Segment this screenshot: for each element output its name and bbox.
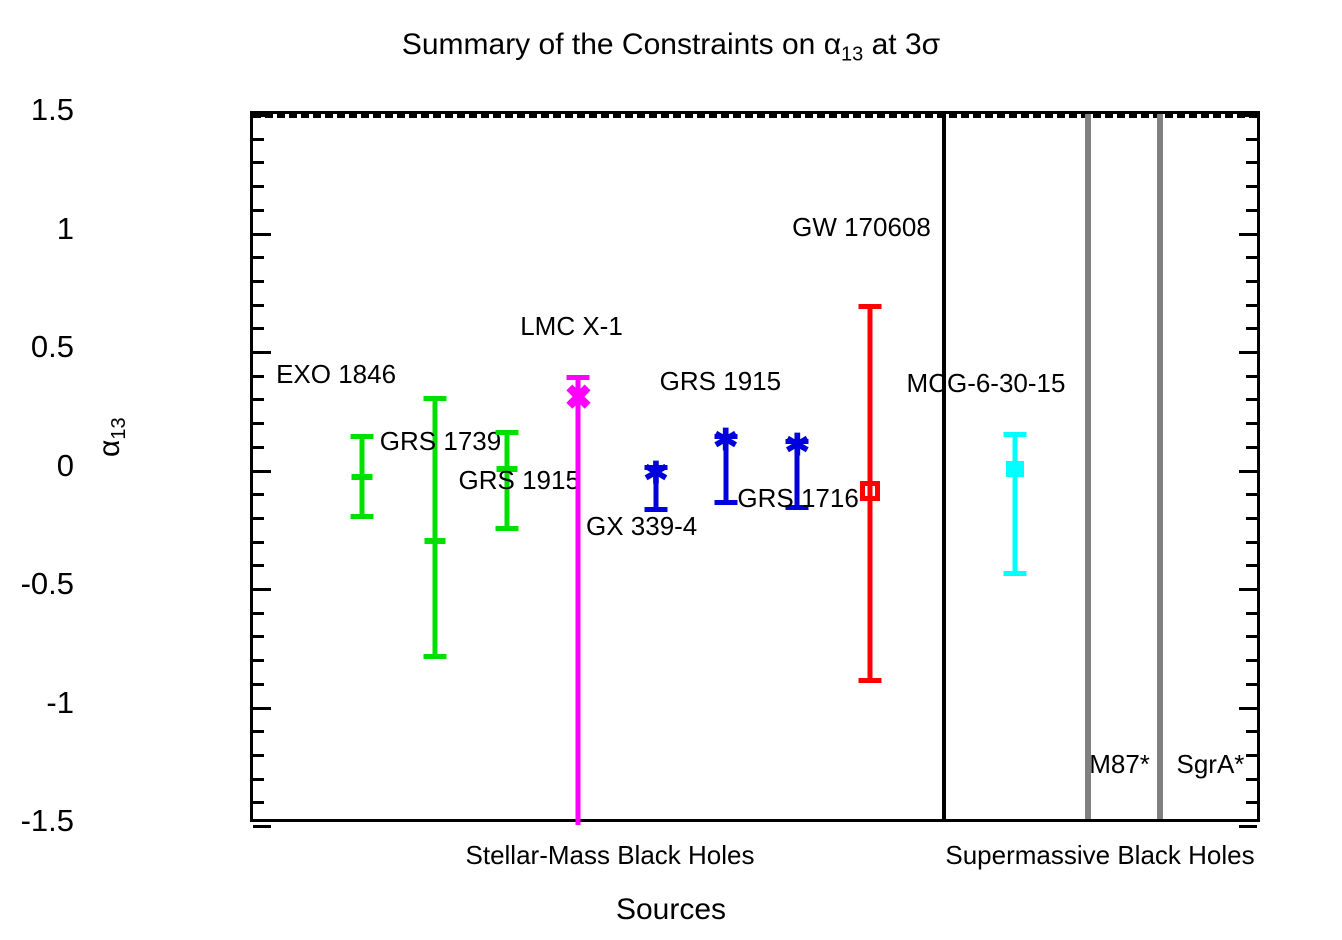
- error-bar-cap-lower: [423, 654, 446, 659]
- y-tick-minor-right: [1246, 422, 1257, 425]
- y-tick-minor-right: [1246, 493, 1257, 496]
- source-label-exo-1846: EXO 1846: [276, 359, 396, 390]
- y-axis-title: α13: [93, 377, 131, 497]
- y-tick-minor-right: [1246, 730, 1257, 733]
- y-tick-minor-right: [1246, 635, 1257, 638]
- y-tick-major: [253, 707, 271, 710]
- y-tick-minor: [253, 564, 264, 567]
- y-tick-minor-right: [1246, 138, 1257, 141]
- source-label-gx-339-4: GX 339-4: [586, 511, 697, 542]
- y-tick-minor: [253, 446, 264, 449]
- y-tick-minor: [253, 612, 264, 615]
- y-tick-minor: [253, 256, 264, 259]
- y-tick-minor: [253, 754, 264, 757]
- y-tick-major: [253, 233, 271, 236]
- source-label-lmc-x-1: LMC X-1: [520, 311, 623, 342]
- data-point-marker: [1006, 461, 1024, 477]
- error-bar-gx-339-4: ✱: [636, 465, 676, 512]
- error-bar-exo-1846: [342, 434, 382, 519]
- error-bar-cap-upper: [423, 396, 446, 401]
- chart-title-subscript: 13: [841, 43, 863, 65]
- y-tick-minor-right: [1246, 446, 1257, 449]
- y-tick-major: [253, 588, 271, 591]
- y-tick-label: -1: [0, 687, 74, 718]
- y-tick-label: 0: [0, 450, 74, 481]
- chart-title-alpha: α: [824, 28, 841, 61]
- chart-title-main: Summary of the Constraints on: [402, 28, 824, 61]
- data-point-marker: [860, 481, 880, 501]
- y-tick-minor-right: [1246, 375, 1257, 378]
- y-axis-title-subscript: 13: [108, 417, 130, 439]
- y-tick-minor: [253, 493, 264, 496]
- data-point-marker: ✱: [643, 461, 669, 487]
- y-tick-minor-right: [1246, 517, 1257, 520]
- y-tick-minor-right: [1246, 659, 1257, 662]
- y-tick-minor-right: [1246, 778, 1257, 781]
- y-tick-minor-right: [1246, 327, 1257, 330]
- y-tick-minor: [253, 801, 264, 804]
- plot-frame: EXO 1846GRS 1739GRS 1915✖LMC X-1✱GX 339-…: [250, 111, 1260, 822]
- y-tick-label: 0.5: [0, 331, 74, 362]
- y-tick-label: -1.5: [0, 805, 74, 836]
- y-tick-major-right: [1239, 233, 1257, 236]
- y-tick-minor-right: [1246, 754, 1257, 757]
- data-point-marker: ✱: [713, 428, 739, 454]
- y-tick-minor: [253, 730, 264, 733]
- y-tick-minor: [253, 138, 264, 141]
- y-axis-title-alpha: α: [93, 440, 126, 457]
- band-label-sgra-: SgrA*: [1177, 749, 1245, 780]
- y-tick-minor: [253, 327, 264, 330]
- y-tick-major: [253, 351, 271, 354]
- source-label-mcg-6-30-15: MCG-6-30-15: [907, 368, 1066, 399]
- y-tick-major-right: [1239, 707, 1257, 710]
- y-tick-minor-right: [1246, 801, 1257, 804]
- data-point-marker: ✖: [564, 384, 592, 412]
- y-tick-minor-right: [1246, 161, 1257, 164]
- y-tick-minor: [253, 635, 264, 638]
- y-tick-minor: [253, 683, 264, 686]
- source-label-gw-170608: GW 170608: [792, 212, 931, 243]
- error-bar-stem: [576, 375, 581, 825]
- y-tick-minor-right: [1246, 304, 1257, 307]
- y-tick-minor-right: [1246, 185, 1257, 188]
- y-tick-major-right: [1239, 351, 1257, 354]
- y-tick-minor: [253, 422, 264, 425]
- y-tick-minor: [253, 541, 264, 544]
- source-label-grs-1915: GRS 1915: [660, 366, 781, 397]
- error-bar-cap-lower: [1003, 571, 1026, 576]
- error-bar-cap-lower: [859, 678, 882, 683]
- error-bar-mcg-6-30-15: [995, 432, 1035, 577]
- error-bar-cap-upper: [351, 434, 374, 439]
- y-tick-minor: [253, 659, 264, 662]
- error-bar-stem: [1012, 432, 1017, 577]
- group-label-stellar: Stellar-Mass Black Holes: [450, 840, 770, 871]
- y-tick-minor: [253, 304, 264, 307]
- sgra-divider: [1157, 114, 1163, 819]
- chart-title: Summary of the Constraints on α13 at 3σ: [0, 28, 1342, 66]
- m87-divider: [1085, 114, 1091, 819]
- y-tick-major-right: [1239, 825, 1257, 828]
- data-point-marker: [352, 474, 373, 480]
- y-tick-label: 1: [0, 213, 74, 244]
- y-tick-major-right: [1239, 470, 1257, 473]
- error-bar-gw-170608: [850, 304, 890, 683]
- source-label-grs-1739: GRS 1739: [380, 426, 501, 457]
- y-tick-label: 1.5: [0, 94, 74, 125]
- y-tick-major: [253, 825, 271, 828]
- data-point-marker: [424, 538, 445, 544]
- error-bar-cap-lower: [714, 500, 737, 505]
- y-tick-minor-right: [1246, 398, 1257, 401]
- error-bar-cap-upper: [859, 304, 882, 309]
- error-bar-cap-lower: [351, 514, 374, 519]
- y-tick-minor: [253, 161, 264, 164]
- stellar-supermassive-divider: [942, 114, 946, 819]
- source-label-grs-1716: GRS 1716: [737, 483, 858, 514]
- y-tick-minor-right: [1246, 209, 1257, 212]
- y-tick-major: [253, 470, 271, 473]
- zero-reference-line: [253, 114, 1257, 118]
- y-tick-minor: [253, 375, 264, 378]
- y-tick-minor: [253, 517, 264, 520]
- y-tick-minor: [253, 209, 264, 212]
- chart-title-tail: at 3σ: [863, 28, 940, 61]
- y-tick-minor: [253, 280, 264, 283]
- y-tick-minor: [253, 185, 264, 188]
- group-label-supermassive: Supermassive Black Holes: [930, 840, 1270, 871]
- y-tick-label: -0.5: [0, 568, 74, 599]
- band-label-m87-: M87*: [1089, 749, 1150, 780]
- error-bar-cap-upper: [495, 430, 518, 435]
- y-tick-minor-right: [1246, 541, 1257, 544]
- error-bar-cap-upper: [1003, 432, 1026, 437]
- y-tick-minor-right: [1246, 256, 1257, 259]
- y-tick-minor: [253, 778, 264, 781]
- error-bar-cap-lower: [495, 526, 518, 531]
- data-point-marker: ✱: [784, 433, 810, 459]
- y-tick-minor-right: [1246, 280, 1257, 283]
- y-tick-major-right: [1239, 588, 1257, 591]
- y-tick-minor: [253, 398, 264, 401]
- y-tick-minor-right: [1246, 564, 1257, 567]
- chart-canvas: Summary of the Constraints on α13 at 3σ …: [0, 0, 1342, 940]
- x-axis-title: Sources: [0, 893, 1342, 927]
- error-bar-lmc-x-1: ✖: [558, 375, 598, 825]
- y-tick-minor-right: [1246, 683, 1257, 686]
- y-tick-minor-right: [1246, 612, 1257, 615]
